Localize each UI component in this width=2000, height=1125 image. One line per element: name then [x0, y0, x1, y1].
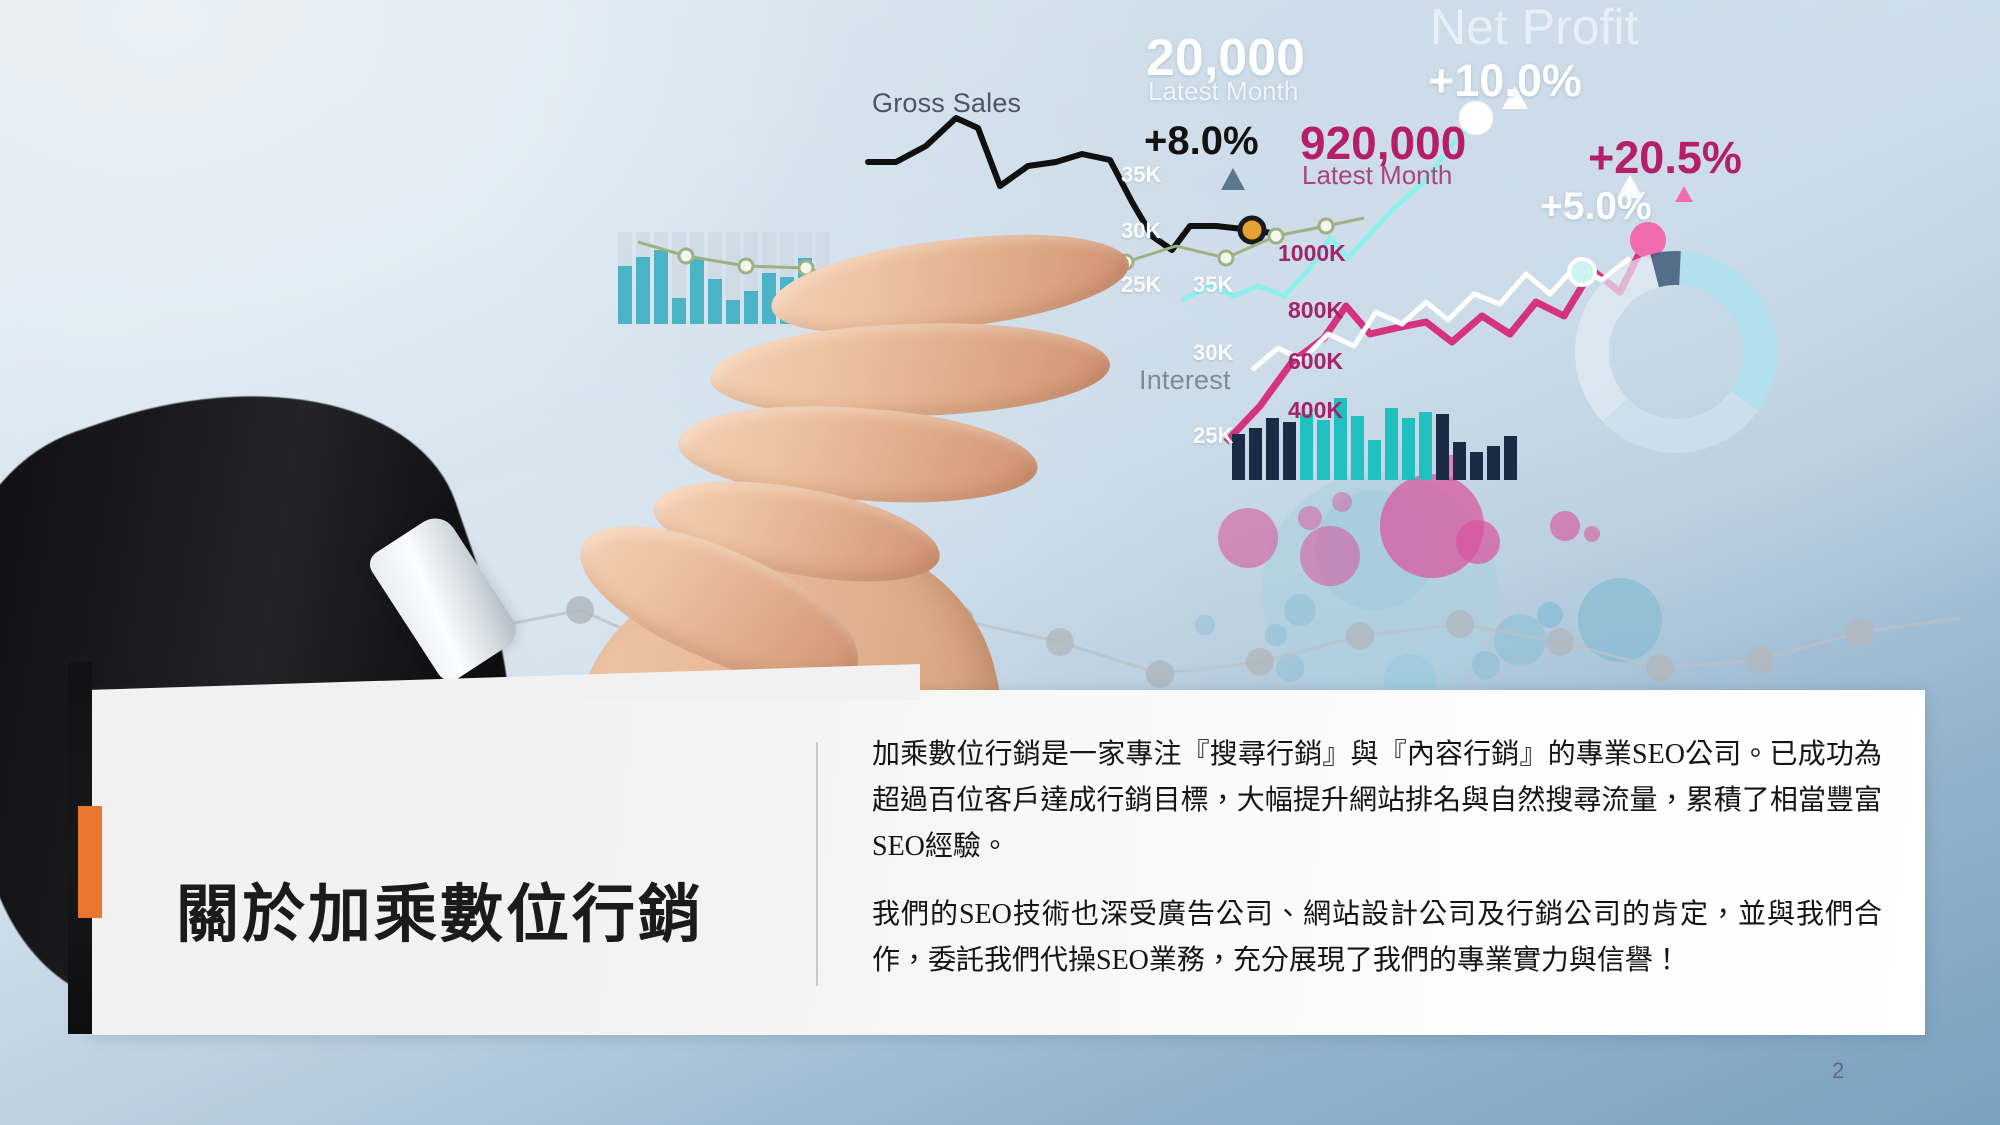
triangle-marker-gray: [1221, 168, 1245, 190]
page-number: 2: [1832, 1058, 1844, 1084]
kpi-gross-sales-latest-caption: Latest Month: [1148, 76, 1298, 107]
axis-tick-mid-35k: 35K: [1193, 272, 1233, 298]
axis-tick-mid-30k: 30K: [1193, 340, 1233, 366]
label-gross-sales: Gross Sales: [872, 88, 1021, 119]
kpi-secondary-change-2: +5.0%: [1540, 185, 1652, 229]
axis-tick-left-25k: 25K: [1121, 272, 1161, 298]
vertical-divider: [816, 742, 818, 986]
kpi-secondary-change-1: +20.5%: [1588, 132, 1742, 184]
label-interest: Interest: [1139, 365, 1231, 396]
axis-tick-right-800k: 800K: [1288, 297, 1343, 324]
page-title: 關於加乘數位行銷: [176, 864, 704, 955]
axis-tick-right-1000k: 1000K: [1278, 240, 1346, 267]
body-paragraph-1: 加乘數位行銷是一家專注『搜尋行銷』與『內容行銷』的專業SEO公司。已成功為超過百…: [872, 732, 1882, 870]
axis-tick-left-35k: 35K: [1121, 162, 1161, 188]
body-paragraph-2: 我們的SEO技術也深受廣告公司、網站設計公司及行銷公司的肯定，並與我們合作，委託…: [872, 892, 1882, 984]
triangle-marker-pink: [1675, 186, 1693, 202]
accent-bar: [78, 806, 102, 918]
donut-chart: [1556, 232, 1796, 472]
axis-tick-left-30k: 30K: [1121, 218, 1161, 244]
axis-tick-mid-25k: 25K: [1193, 423, 1233, 449]
axis-tick-right-600k: 600K: [1288, 348, 1343, 375]
kpi-net-profit-change: +10.0%: [1428, 55, 1582, 107]
content-card: 關於加乘數位行銷 加乘數位行銷是一家專注『搜尋行銷』與『內容行銷』的專業SEO公…: [90, 690, 1925, 1035]
kpi-interest-latest-caption: Latest Month: [1302, 160, 1452, 191]
body-text-column: 加乘數位行銷是一家專注『搜尋行銷』與『內容行銷』的專業SEO公司。已成功為超過百…: [872, 732, 1882, 984]
label-net-profit: Net Profit: [1430, 0, 1638, 56]
slide: Gross Sales Interest Net Profit 20,000 L…: [0, 0, 2000, 1125]
kpi-gross-sales-change: +8.0%: [1144, 119, 1259, 164]
axis-tick-right-400k: 400K: [1288, 397, 1343, 424]
